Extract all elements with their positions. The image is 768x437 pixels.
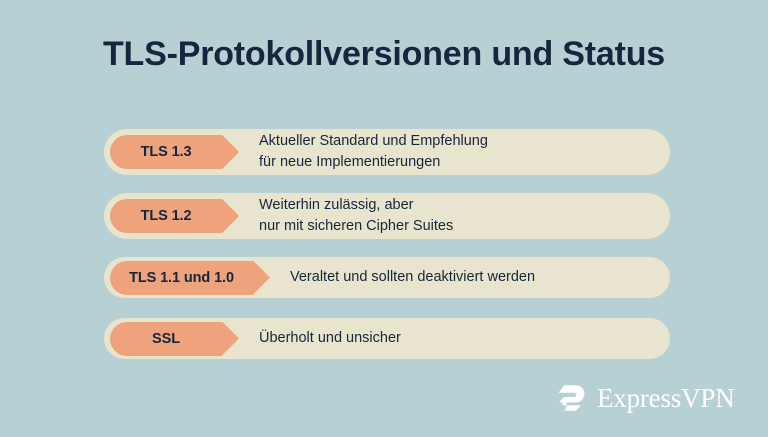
version-description: Überholt und unsicher	[259, 328, 670, 349]
list-item: TLS 1.1 und 1.0 Veraltet und sollten dea…	[104, 257, 670, 298]
list-item: SSL Überholt und unsicher	[104, 318, 670, 359]
list-item: TLS 1.2 Weiterhin zulässig, aber nur mit…	[104, 193, 670, 239]
status-row-list: TLS 1.3 Aktueller Standard und Empfehlun…	[104, 129, 670, 379]
brand-name: ExpressVPN	[597, 385, 735, 412]
expressvpn-logo-icon	[553, 382, 587, 414]
version-tag-tls-11-10: TLS 1.1 und 1.0	[110, 261, 253, 295]
version-tag-tls-12: TLS 1.2	[110, 199, 222, 233]
version-description: Weiterhin zulässig, aber nur mit sichere…	[259, 195, 670, 236]
version-description: Veraltet und sollten deaktiviert werden	[290, 267, 670, 288]
page-title: TLS-Protokollversionen und Status	[0, 36, 768, 73]
version-tag-ssl: SSL	[110, 322, 222, 356]
version-tag-tls-13: TLS 1.3	[110, 135, 222, 169]
list-item: TLS 1.3 Aktueller Standard und Empfehlun…	[104, 129, 670, 175]
version-description: Aktueller Standard und Empfehlung für ne…	[259, 131, 670, 172]
brand-logo: ExpressVPN	[553, 382, 735, 414]
infographic-canvas: TLS-Protokollversionen und Status TLS 1.…	[0, 0, 768, 437]
